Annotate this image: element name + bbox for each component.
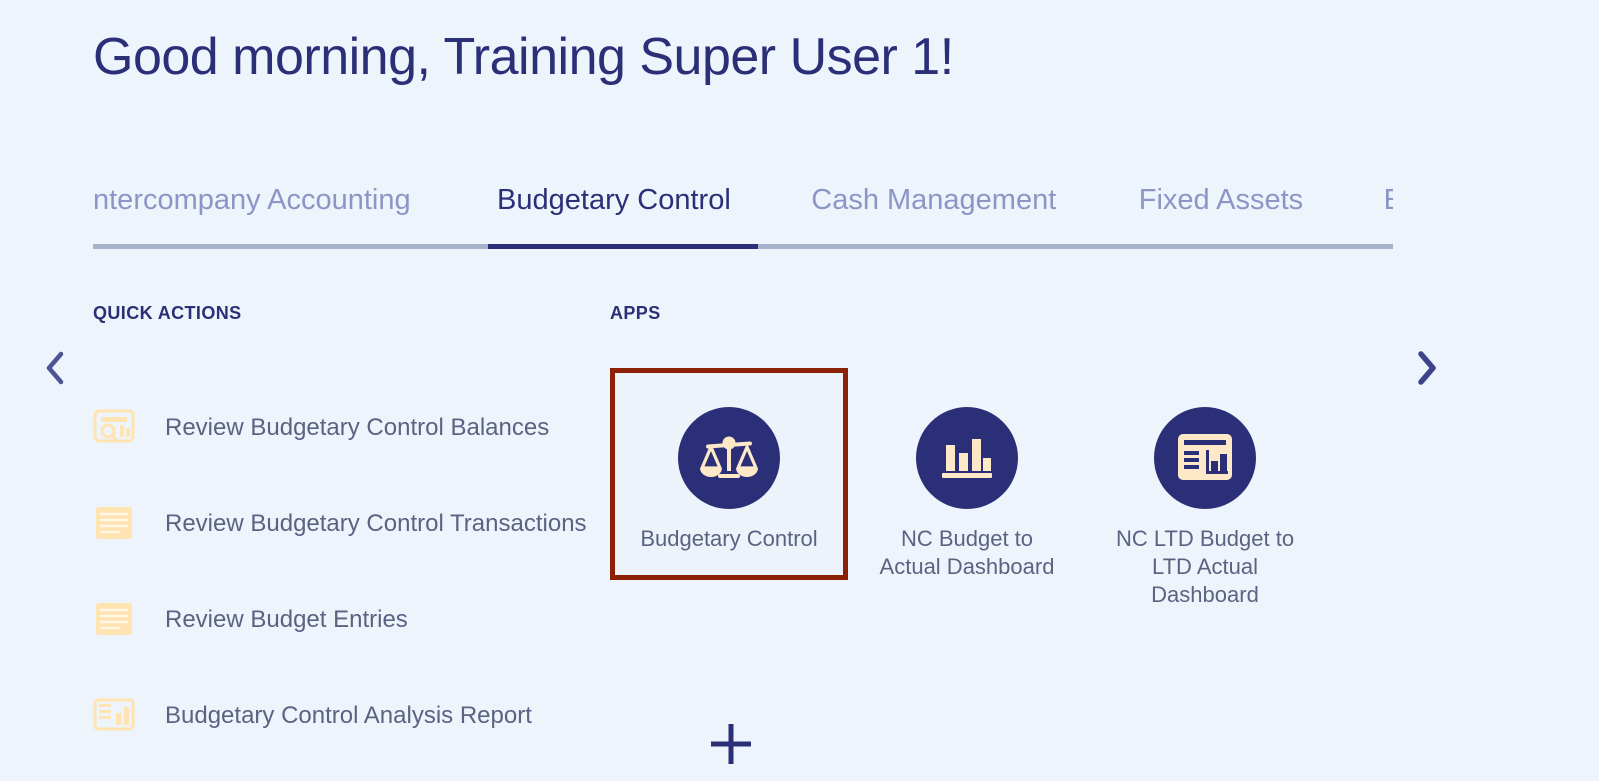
quick-action-label: Review Budget Entries <box>165 606 408 634</box>
app-label: Budgetary Control <box>640 525 817 553</box>
tab-strip: ntercompany Accounting Budgetary Control… <box>0 163 1599 263</box>
document-lines-icon <box>93 601 135 639</box>
quick-action-review-budget-entries[interactable]: Review Budget Entries <box>93 572 593 668</box>
app-tile-budgetary-control[interactable]: Budgetary Control <box>610 368 848 580</box>
bar-chart-icon <box>916 407 1018 509</box>
apps-list: Budgetary Control NC Budget to Actual Da… <box>610 368 1410 636</box>
chevron-left-icon <box>44 350 66 386</box>
app-tile-nc-ltd-budget-to-ltd-actual-dashboard[interactable]: NC LTD Budget to LTD Actual Dashboard <box>1086 368 1324 636</box>
tab-fixed-assets[interactable]: Fixed Assets <box>1139 163 1303 237</box>
add-app-button[interactable] <box>703 718 759 774</box>
report-search-icon <box>93 409 135 447</box>
springboard-page: Good morning, Training Super User 1! nte… <box>0 0 1599 781</box>
tab-prev-button[interactable] <box>38 348 72 388</box>
quick-action-review-budgetary-control-transactions[interactable]: Review Budgetary Control Transactions <box>93 476 593 572</box>
tab-intercompany-accounting[interactable]: ntercompany Accounting <box>93 163 411 237</box>
apps-heading: APPS <box>610 303 661 324</box>
tab-underline-track <box>93 244 1393 249</box>
tab-expenses[interactable]: Exper <box>1384 163 1393 237</box>
tab-next-button[interactable] <box>1410 348 1444 388</box>
analysis-report-icon <box>93 697 135 735</box>
app-label: NC LTD Budget to LTD Actual Dashboard <box>1110 525 1300 609</box>
tab-list: ntercompany Accounting Budgetary Control… <box>93 163 1393 241</box>
chevron-right-icon <box>1416 350 1438 386</box>
dashboard-report-icon <box>1154 407 1256 509</box>
quick-action-label: Review Budgetary Control Balances <box>165 414 549 442</box>
app-tile-nc-budget-to-actual-dashboard[interactable]: NC Budget to Actual Dashboard <box>848 368 1086 608</box>
document-lines-icon <box>93 505 135 543</box>
tab-cash-management[interactable]: Cash Management <box>811 163 1056 237</box>
quick-action-budgetary-control-analysis-report[interactable]: Budgetary Control Analysis Report <box>93 668 593 764</box>
scales-balance-icon <box>678 407 780 509</box>
quick-actions-list: Review Budgetary Control Balances Review… <box>93 380 593 764</box>
quick-action-label: Review Budgetary Control Transactions <box>165 510 587 538</box>
tab-budgetary-control[interactable]: Budgetary Control <box>497 163 731 237</box>
quick-actions-heading: QUICK ACTIONS <box>93 303 242 324</box>
quick-action-review-budgetary-control-balances[interactable]: Review Budgetary Control Balances <box>93 380 593 476</box>
app-label: NC Budget to Actual Dashboard <box>872 525 1062 581</box>
quick-action-label: Budgetary Control Analysis Report <box>165 702 532 730</box>
tab-active-indicator <box>488 244 758 249</box>
plus-icon <box>705 718 757 775</box>
page-title: Good morning, Training Super User 1! <box>93 28 954 88</box>
